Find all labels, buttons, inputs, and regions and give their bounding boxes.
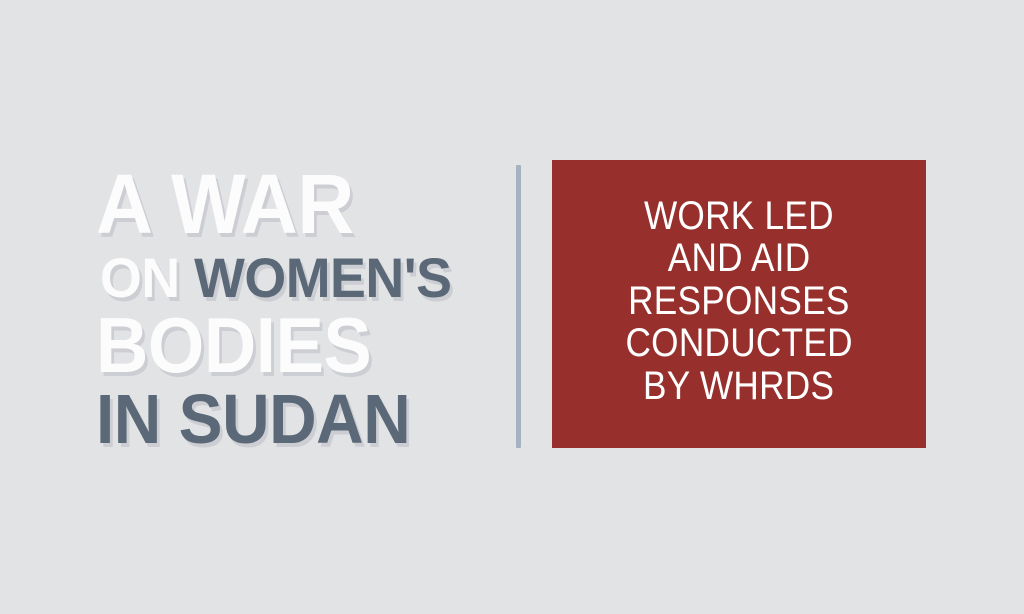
panel-line-1: WORK LED (644, 195, 834, 237)
panel-line-4: CONDUCTED (625, 322, 852, 364)
panel-line-2: AND AID (668, 237, 811, 279)
headline-line-in-sudan: IN SUDAN (96, 384, 410, 454)
headline-line-bodies: BODIES (96, 306, 371, 384)
vertical-divider (516, 165, 521, 448)
headline-word-on: ON (100, 246, 194, 309)
headline-block: A WAR ON WOMEN'S BODIES IN SUDAN (94, 162, 514, 454)
headline-word-womens: WOMEN'S (194, 246, 451, 309)
headline-line-a-war: A WAR (96, 162, 354, 246)
red-callout-panel: WORK LED AND AID RESPONSES CONDUCTED BY … (552, 160, 926, 448)
infographic-canvas: A WAR ON WOMEN'S BODIES IN SUDAN WORK LE… (0, 0, 1024, 614)
panel-line-5: BY WHRDS (643, 365, 834, 407)
panel-line-3: RESPONSES (628, 280, 849, 322)
headline-line-on-womens: ON WOMEN'S (100, 250, 451, 306)
